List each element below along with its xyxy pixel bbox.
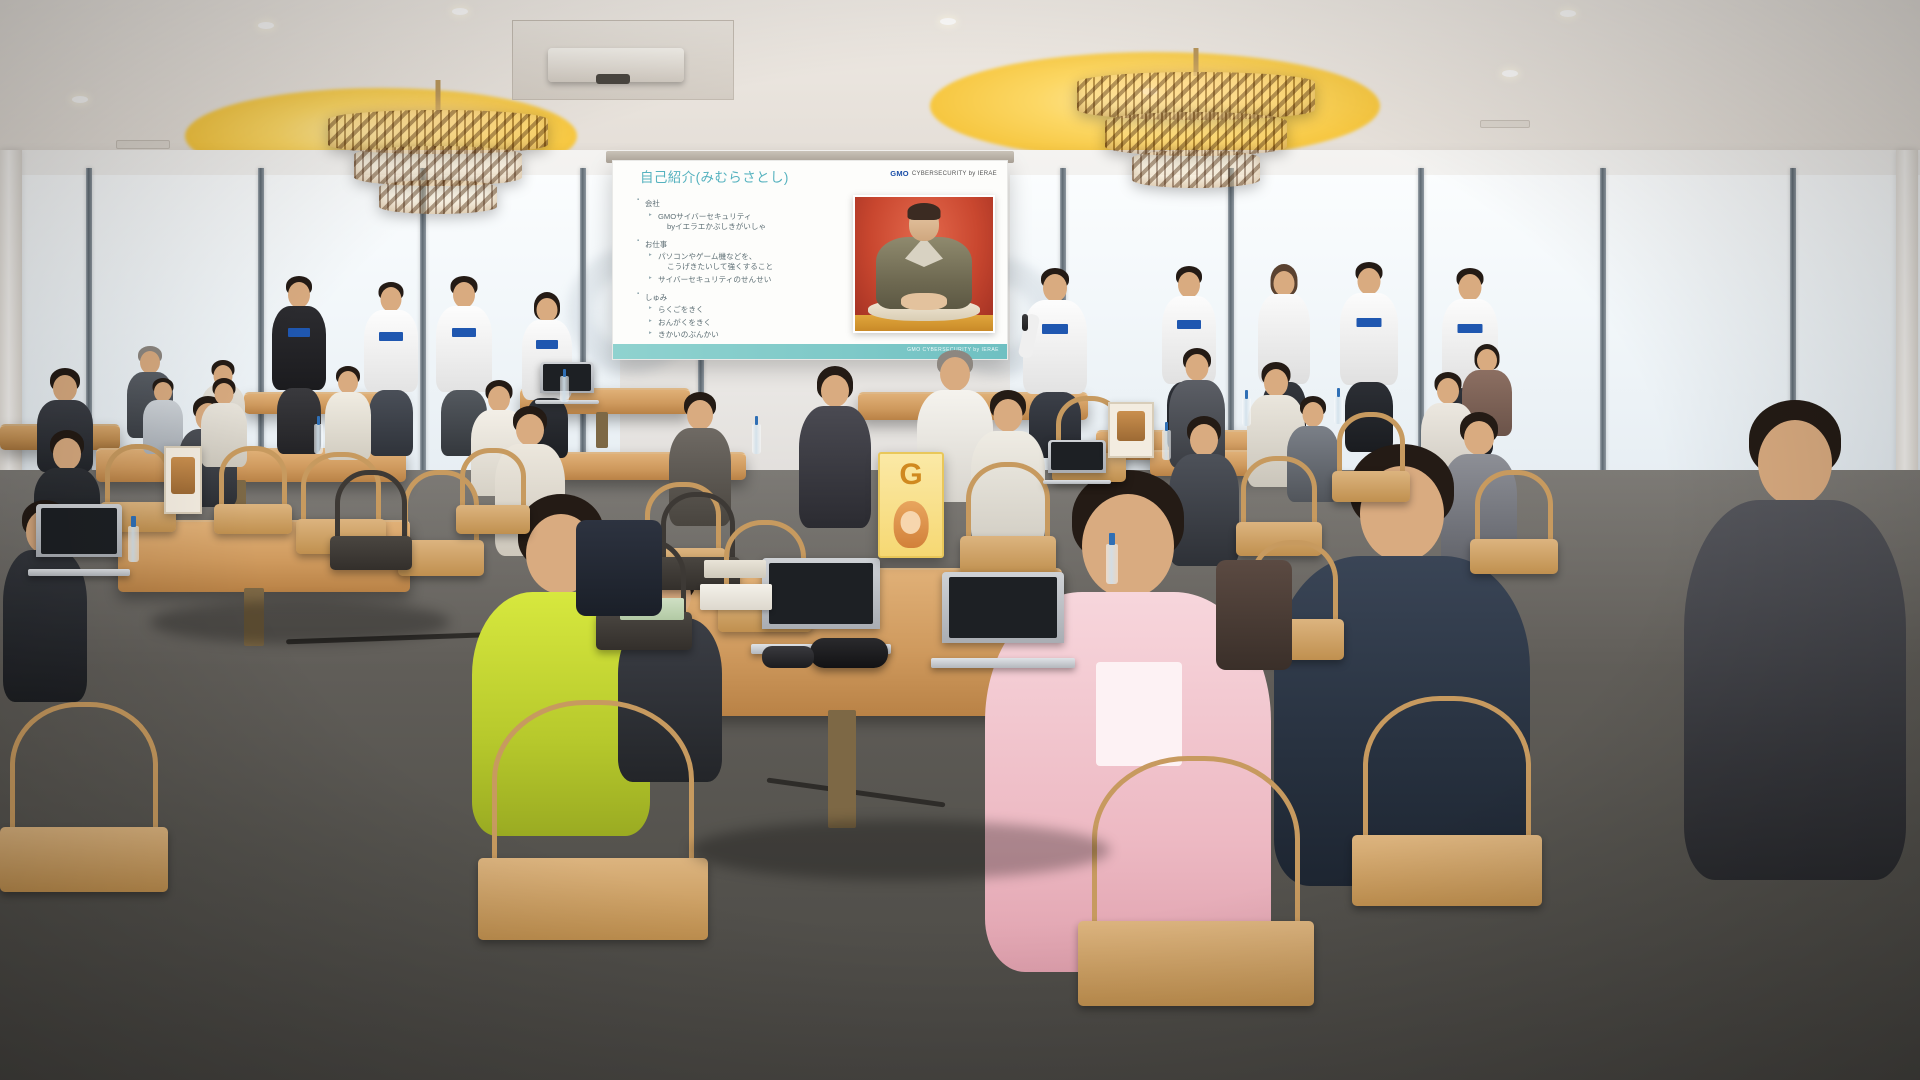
chair	[1332, 412, 1410, 502]
tshirt-print	[1096, 662, 1182, 766]
participant	[796, 366, 874, 526]
slide-bullet-continuation: byイエラエかぶしきがいしゃ	[658, 222, 849, 232]
chair	[0, 702, 168, 892]
slide-photo-rakugo-performer	[853, 195, 995, 333]
water-bottle[interactable]	[128, 526, 139, 562]
projection-screen: 自己紹介(みむらさとし) GMO CYBERSECURITY by IERAE …	[612, 160, 1008, 360]
microphone	[1022, 314, 1028, 331]
table-leg	[596, 412, 608, 448]
backpack	[1216, 560, 1292, 670]
slide-bullet: きかいのぶんかい	[639, 330, 849, 340]
slide-bullet: おんがくをきく	[639, 318, 849, 328]
floor-shadow	[690, 820, 1110, 880]
downlight-icon	[258, 22, 274, 29]
water-bottle[interactable]	[1334, 396, 1343, 424]
downlight-icon	[1560, 10, 1576, 17]
laptop[interactable]	[1048, 440, 1106, 484]
slide-bullet-text: おんがくをきく	[658, 318, 711, 327]
chair	[214, 446, 292, 534]
slide-header: 自己紹介(みむらさとし) GMO CYBERSECURITY by IERAE	[613, 161, 1007, 187]
slide-bullet-text: サイバーセキュリティのせんせい	[658, 275, 771, 284]
slide-bullet-text: GMOサイバーセキュリティ	[658, 212, 751, 221]
water-bottle[interactable]	[1162, 430, 1171, 460]
slide-bullet: らくごをきく	[639, 305, 849, 315]
table-poster	[164, 446, 202, 514]
mouse[interactable]	[810, 638, 888, 668]
water-bottle[interactable]	[752, 424, 761, 454]
slide-bullet: GMOサイバーセキュリティ byイエラエかぶしきがいしゃ	[639, 212, 849, 232]
floor-shadow	[150, 600, 450, 644]
slide-bullet-continuation: こうげきたいして強くすること	[658, 262, 849, 272]
projector-lens	[596, 74, 630, 84]
water-bottle[interactable]	[1106, 544, 1118, 584]
downlight-icon	[1502, 70, 1518, 77]
downlight-icon	[452, 8, 468, 15]
ceiling-vent	[116, 140, 170, 149]
chair	[1470, 470, 1558, 574]
downlight-icon	[940, 18, 956, 25]
chair	[1078, 756, 1314, 1006]
chandelier-right	[1036, 48, 1356, 218]
slide-bullet-text: パソコンやゲーム機などを、	[658, 252, 757, 261]
ceiling-vent	[1480, 120, 1530, 128]
mascot-sign-letter: G	[899, 460, 922, 490]
slide-bullet-text: らくごをきく	[658, 305, 704, 314]
slide-bullet-text: きかいのぶんかい	[658, 330, 719, 339]
paper-handout	[704, 560, 766, 578]
participant	[322, 366, 374, 458]
participant-foreground	[1680, 400, 1910, 880]
slide-bullet: パソコンやゲーム機などを、 こうげきたいして強くすること	[639, 252, 849, 272]
downlight-icon	[72, 96, 88, 103]
slide-logo-suffix: CYBERSECURITY by IERAE	[912, 171, 997, 177]
water-bottle[interactable]	[314, 424, 323, 454]
water-bottle[interactable]	[560, 376, 569, 402]
table-leg	[828, 710, 856, 828]
chandelier-left	[288, 80, 588, 230]
chair	[478, 700, 708, 940]
chair	[456, 448, 530, 534]
paper-handout	[700, 584, 772, 610]
backpack	[576, 520, 662, 616]
slide-body: 会社 GMOサイバーセキュリティ byイエラエかぶしきがいしゃ お仕事 パソコン…	[639, 191, 849, 340]
slide-bullet: サイバーセキュリティのせんせい	[639, 275, 849, 285]
photo-scene: 自己紹介(みむらさとし) GMO CYBERSECURITY by IERAE …	[0, 0, 1920, 1080]
laptop[interactable]	[942, 572, 1064, 668]
presentation-slide: 自己紹介(みむらさとし) GMO CYBERSECURITY by IERAE …	[612, 160, 1008, 360]
chair	[1352, 696, 1542, 906]
chair	[330, 470, 412, 570]
mascot-sign: G	[878, 452, 944, 558]
slide-section-heading: お仕事	[639, 239, 849, 250]
slide-logo: GMO CYBERSECURITY by IERAE	[890, 169, 997, 178]
mouse[interactable]	[762, 646, 814, 668]
window-mullion	[258, 168, 264, 478]
slide-section-heading: 会社	[639, 198, 849, 209]
slide-section-heading: しゅみ	[639, 292, 849, 303]
water-bottle[interactable]	[1242, 398, 1251, 426]
mascot-illustration	[894, 501, 929, 548]
table-poster	[1108, 402, 1154, 458]
laptop[interactable]	[36, 504, 122, 576]
slide-title: 自己紹介(みむらさとし)	[640, 166, 789, 186]
slide-logo-brand: GMO	[890, 169, 909, 178]
chair	[960, 462, 1056, 574]
window-mullion	[1600, 168, 1606, 478]
